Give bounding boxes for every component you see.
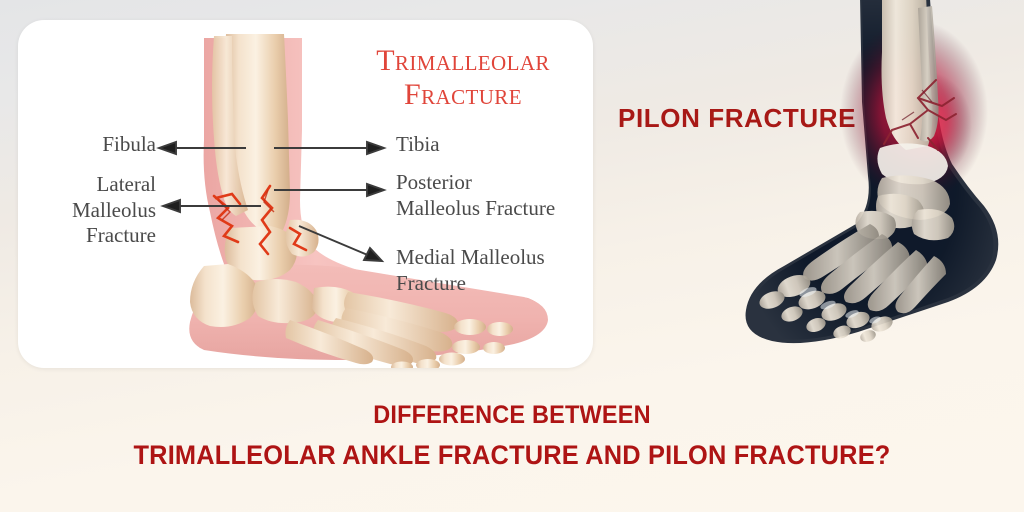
- label-lateral-malleolus-fracture: Lateral Malleolus Fracture: [28, 172, 156, 249]
- label-tibia: Tibia: [396, 132, 586, 158]
- page-caption: DIFFERENCE BETWEEN TRIMALLEOLAR ANKLE FR…: [0, 396, 1024, 477]
- caption-line2: TRIMALLEOLAR ANKLE FRACTURE AND PILON FR…: [31, 435, 994, 477]
- label-posterior-malleolus-fracture: Posterior Malleolus Fracture: [396, 170, 593, 221]
- label-medial-malleolus-fracture: Medial Malleolus Fracture: [396, 245, 593, 296]
- label-fibula: Fibula: [46, 132, 156, 158]
- pilon-fracture-xray-illustration: [742, 0, 1024, 386]
- trimalleolar-fracture-card: Trimalleolar Fracture Fibula Lateral Mal…: [18, 20, 593, 368]
- caption-line1: DIFFERENCE BETWEEN: [31, 396, 994, 435]
